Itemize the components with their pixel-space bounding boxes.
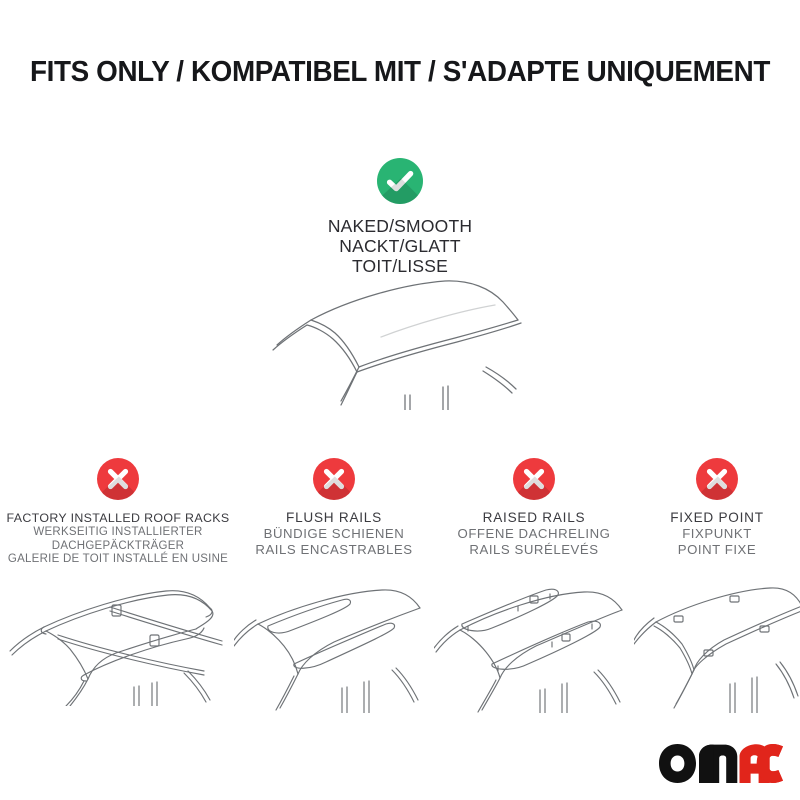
- incompatible-label-en: FACTORY INSTALLED ROOF RACKS: [0, 510, 236, 526]
- incompatible-label-fr: POINT FIXE: [634, 542, 800, 558]
- car-roof-naked-smooth-illustration: [255, 275, 545, 415]
- incompatible-label-fr: GALERIE DE TOIT INSTALLÉ EN USINE: [0, 553, 236, 566]
- incompatible-labels: RAISED RAILS OFFENE DACHRELING RAILS SUR…: [434, 510, 634, 558]
- incompatible-option-fixed-point: FIXED POINT FIXPUNKT POINT FIXE: [634, 458, 800, 718]
- compatible-label-de: NACKT/GLATT: [250, 236, 550, 256]
- car-roof-fixed-point-illustration: [634, 578, 800, 718]
- cross-circle-icon: [513, 458, 555, 500]
- compatible-labels: NAKED/SMOOTH NACKT/GLATT TOIT/LISSE: [250, 216, 550, 276]
- incompatible-label-fr: RAILS ENCASTRABLES: [234, 542, 434, 558]
- car-roof-factory-installed-roof-racks-illustration: [0, 571, 236, 711]
- incompatible-label-en: RAISED RAILS: [434, 510, 634, 526]
- cross-circle-icon: [97, 458, 139, 500]
- incompatible-label-fr: RAILS SURÉLEVÉS: [434, 542, 634, 558]
- page-title: FITS ONLY / KOMPATIBEL MIT / S'ADAPTE UN…: [16, 56, 784, 89]
- incompatible-option-flush-rails: FLUSH RAILS BÜNDIGE SCHIENEN RAILS ENCAS…: [234, 458, 434, 718]
- incompatible-labels: FIXED POINT FIXPUNKT POINT FIXE: [634, 510, 800, 558]
- car-roof-flush-rails-illustration: [234, 578, 434, 718]
- compatible-option: NAKED/SMOOTH NACKT/GLATT TOIT/LISSE: [250, 158, 550, 276]
- incompatible-label-en: FLUSH RAILS: [234, 510, 434, 526]
- cross-circle-icon: [313, 458, 355, 500]
- compatible-label-en: NAKED/SMOOTH: [250, 216, 550, 236]
- incompatible-option-factory-installed-roof-racks: FACTORY INSTALLED ROOF RACKS WERKSEITIG …: [0, 458, 236, 711]
- incompatible-labels: FACTORY INSTALLED ROOF RACKS WERKSEITIG …: [0, 510, 236, 567]
- cross-circle-icon: [696, 458, 738, 500]
- incompatible-labels: FLUSH RAILS BÜNDIGE SCHIENEN RAILS ENCAS…: [234, 510, 434, 558]
- incompatible-label-de-1: OFFENE DACHRELING: [434, 526, 634, 542]
- fitment-infographic: FITS ONLY / KOMPATIBEL MIT / S'ADAPTE UN…: [0, 0, 800, 800]
- incompatible-label-de-2: DACHGEPÄCKTRÄGER: [0, 540, 236, 553]
- compatible-label-fr: TOIT/LISSE: [250, 256, 550, 276]
- incompatible-label-de-1: WERKSEITIG INSTALLIERTER: [0, 526, 236, 539]
- omac-logo: [657, 742, 785, 786]
- check-circle-icon: [377, 158, 423, 204]
- incompatible-label-de-1: BÜNDIGE SCHIENEN: [234, 526, 434, 542]
- incompatible-option-raised-rails: RAISED RAILS OFFENE DACHRELING RAILS SUR…: [434, 458, 634, 718]
- incompatible-label-de-1: FIXPUNKT: [634, 526, 800, 542]
- car-roof-raised-rails-illustration: [434, 578, 634, 718]
- incompatible-label-en: FIXED POINT: [634, 510, 800, 526]
